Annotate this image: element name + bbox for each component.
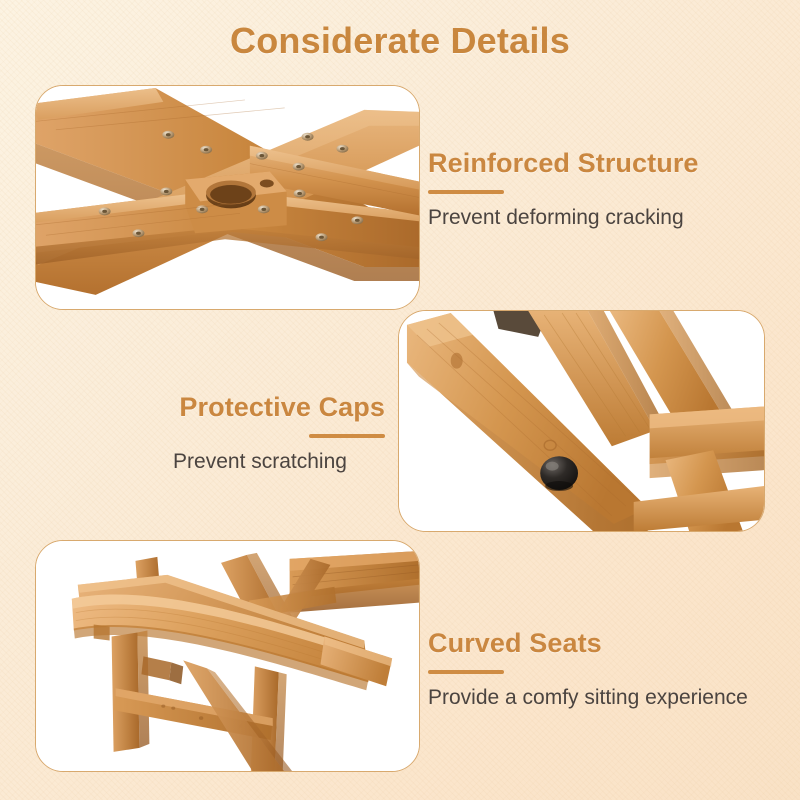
- feature-subtitle: Provide a comfy sitting experience: [428, 686, 748, 710]
- feature-heading: Curved Seats: [428, 628, 748, 659]
- photo-curved-seats: [36, 541, 419, 772]
- feature-divider: [428, 190, 504, 194]
- feature-divider: [309, 434, 385, 438]
- protective-cap-knob: [540, 456, 578, 491]
- photo-protective-caps: [399, 311, 764, 532]
- feature-text-reinforced-structure: Reinforced Structure Prevent deforming c…: [428, 148, 699, 230]
- feature-heading: Protective Caps: [135, 392, 385, 423]
- feature-heading: Reinforced Structure: [428, 148, 699, 179]
- photo-reinforced-structure: [36, 86, 419, 310]
- photo-panel-curved-seats: [35, 540, 420, 772]
- photo-panel-reinforced-structure: [35, 85, 420, 310]
- feature-subtitle: Prevent deforming cracking: [428, 206, 699, 230]
- infographic-canvas: Considerate Details: [0, 0, 800, 800]
- feature-subtitle: Prevent scratching: [135, 450, 385, 474]
- page-title: Considerate Details: [0, 20, 800, 62]
- feature-text-protective-caps: Protective Caps Prevent scratching: [135, 392, 385, 474]
- photo-panel-protective-caps: [398, 310, 765, 532]
- feature-divider: [428, 670, 504, 674]
- feature-text-curved-seats: Curved Seats Provide a comfy sitting exp…: [428, 628, 748, 710]
